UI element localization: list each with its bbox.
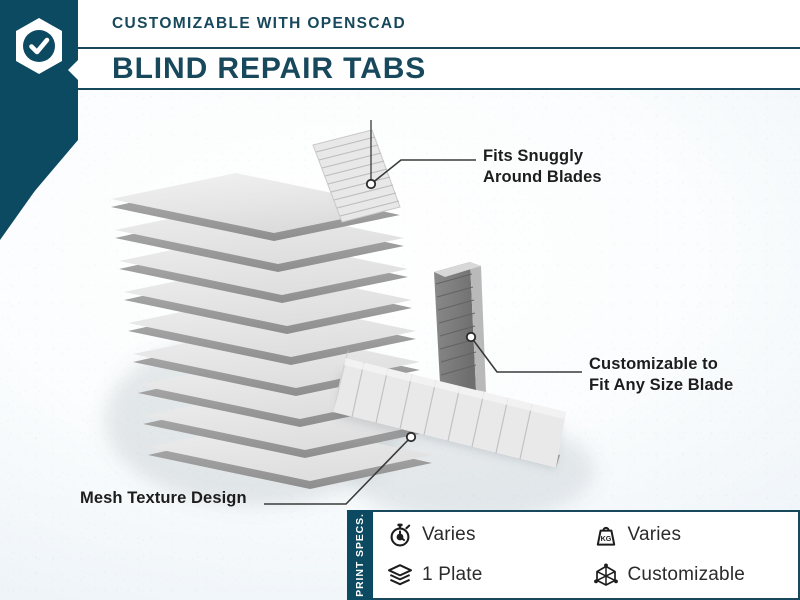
header-panel: CUSTOMIZABLE WITH OPENSCAD BLIND REPAIR … (72, 0, 800, 90)
callout-mesh-texture: Mesh Texture Design (80, 488, 247, 509)
print-specs-tab: PRINT SPECS. (347, 510, 373, 600)
callout-fits-snuggly: Fits Snuggly Around Blades (483, 146, 602, 188)
spec-plates-label: 1 Plate (422, 564, 483, 586)
callout-customizable: Customizable to Fit Any Size Blade (589, 354, 733, 396)
print-specs-body: Varies KG Varies 1 Plate (373, 510, 800, 600)
spec-scale: Customizable (593, 562, 799, 588)
weight-kg-icon: KG (593, 522, 619, 548)
svg-text:KG: KG (600, 534, 611, 543)
header-eyebrow-row: CUSTOMIZABLE WITH OPENSCAD (112, 0, 800, 47)
header-underline (72, 88, 800, 90)
hexagon-check-icon (12, 16, 66, 76)
callout-fits-snuggly-label: Fits Snuggly Around Blades (483, 146, 602, 188)
header-eyebrow: CUSTOMIZABLE WITH OPENSCAD (112, 15, 406, 33)
callout-mesh-texture-label: Mesh Texture Design (80, 488, 247, 509)
print-specs-tab-label: PRINT SPECS. (354, 513, 366, 597)
standing-tab (434, 262, 486, 402)
poster-canvas: CUSTOMIZABLE WITH OPENSCAD BLIND REPAIR … (0, 0, 800, 600)
spec-scale-label: Customizable (628, 564, 746, 586)
scale-3d-icon (593, 562, 619, 588)
header-title-row: BLIND REPAIR TABS (112, 49, 800, 88)
spec-plates: 1 Plate (387, 562, 593, 588)
spec-print-time: Varies (387, 522, 593, 548)
spec-print-time-label: Varies (422, 524, 476, 546)
spec-weight-label: Varies (628, 524, 682, 546)
page-title: BLIND REPAIR TABS (112, 52, 426, 86)
spec-weight: KG Varies (593, 522, 799, 548)
layers-icon (387, 562, 413, 588)
stopwatch-icon (387, 522, 413, 548)
callout-customizable-label: Customizable to Fit Any Size Blade (589, 354, 733, 396)
print-specs-panel: PRINT SPECS. Varies KG (347, 510, 800, 600)
